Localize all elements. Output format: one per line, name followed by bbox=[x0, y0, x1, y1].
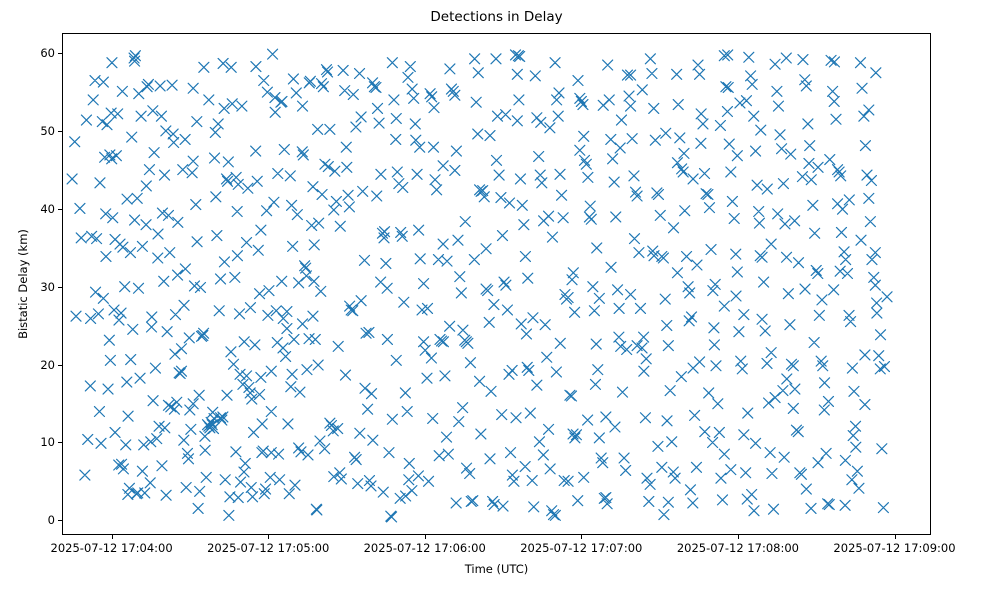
x-tick-mark bbox=[268, 535, 269, 539]
y-tick-mark bbox=[58, 209, 62, 210]
x-tick-label: 2025-07-12 17:05:00 bbox=[207, 541, 329, 555]
y-axis-label: Bistatic Delay (km) bbox=[14, 33, 32, 535]
x-tick-label: 2025-07-12 17:09:00 bbox=[833, 541, 955, 555]
x-tick-mark bbox=[581, 535, 582, 539]
x-tick-label: 2025-07-12 17:07:00 bbox=[520, 541, 642, 555]
x-tick-mark bbox=[738, 535, 739, 539]
plot-area[interactable] bbox=[62, 33, 931, 535]
scatter-series bbox=[63, 34, 930, 534]
y-tick-label: 50 bbox=[40, 124, 55, 138]
y-tick-mark bbox=[58, 520, 62, 521]
figure-canvas: Detections in Delay 2025-07-12 17:04:002… bbox=[0, 0, 987, 590]
x-tick-label: 2025-07-12 17:04:00 bbox=[51, 541, 173, 555]
x-tick-mark bbox=[425, 535, 426, 539]
y-tick-mark bbox=[58, 365, 62, 366]
x-axis-label: Time (UTC) bbox=[62, 562, 931, 577]
y-tick-mark bbox=[58, 287, 62, 288]
x-tick-label: 2025-07-12 17:06:00 bbox=[364, 541, 486, 555]
y-tick-label: 60 bbox=[40, 46, 55, 60]
y-tick-mark bbox=[58, 131, 62, 132]
y-tick-label: 40 bbox=[40, 202, 55, 216]
x-tick-mark bbox=[895, 535, 896, 539]
y-tick-label: 10 bbox=[40, 435, 55, 449]
y-tick-label: 30 bbox=[40, 280, 55, 294]
y-tick-mark bbox=[58, 53, 62, 54]
chart-title: Detections in Delay bbox=[62, 8, 931, 26]
y-tick-mark bbox=[58, 442, 62, 443]
y-tick-label: 0 bbox=[48, 513, 55, 527]
y-tick-label: 20 bbox=[40, 358, 55, 372]
x-tick-label: 2025-07-12 17:08:00 bbox=[677, 541, 799, 555]
x-tick-mark bbox=[112, 535, 113, 539]
